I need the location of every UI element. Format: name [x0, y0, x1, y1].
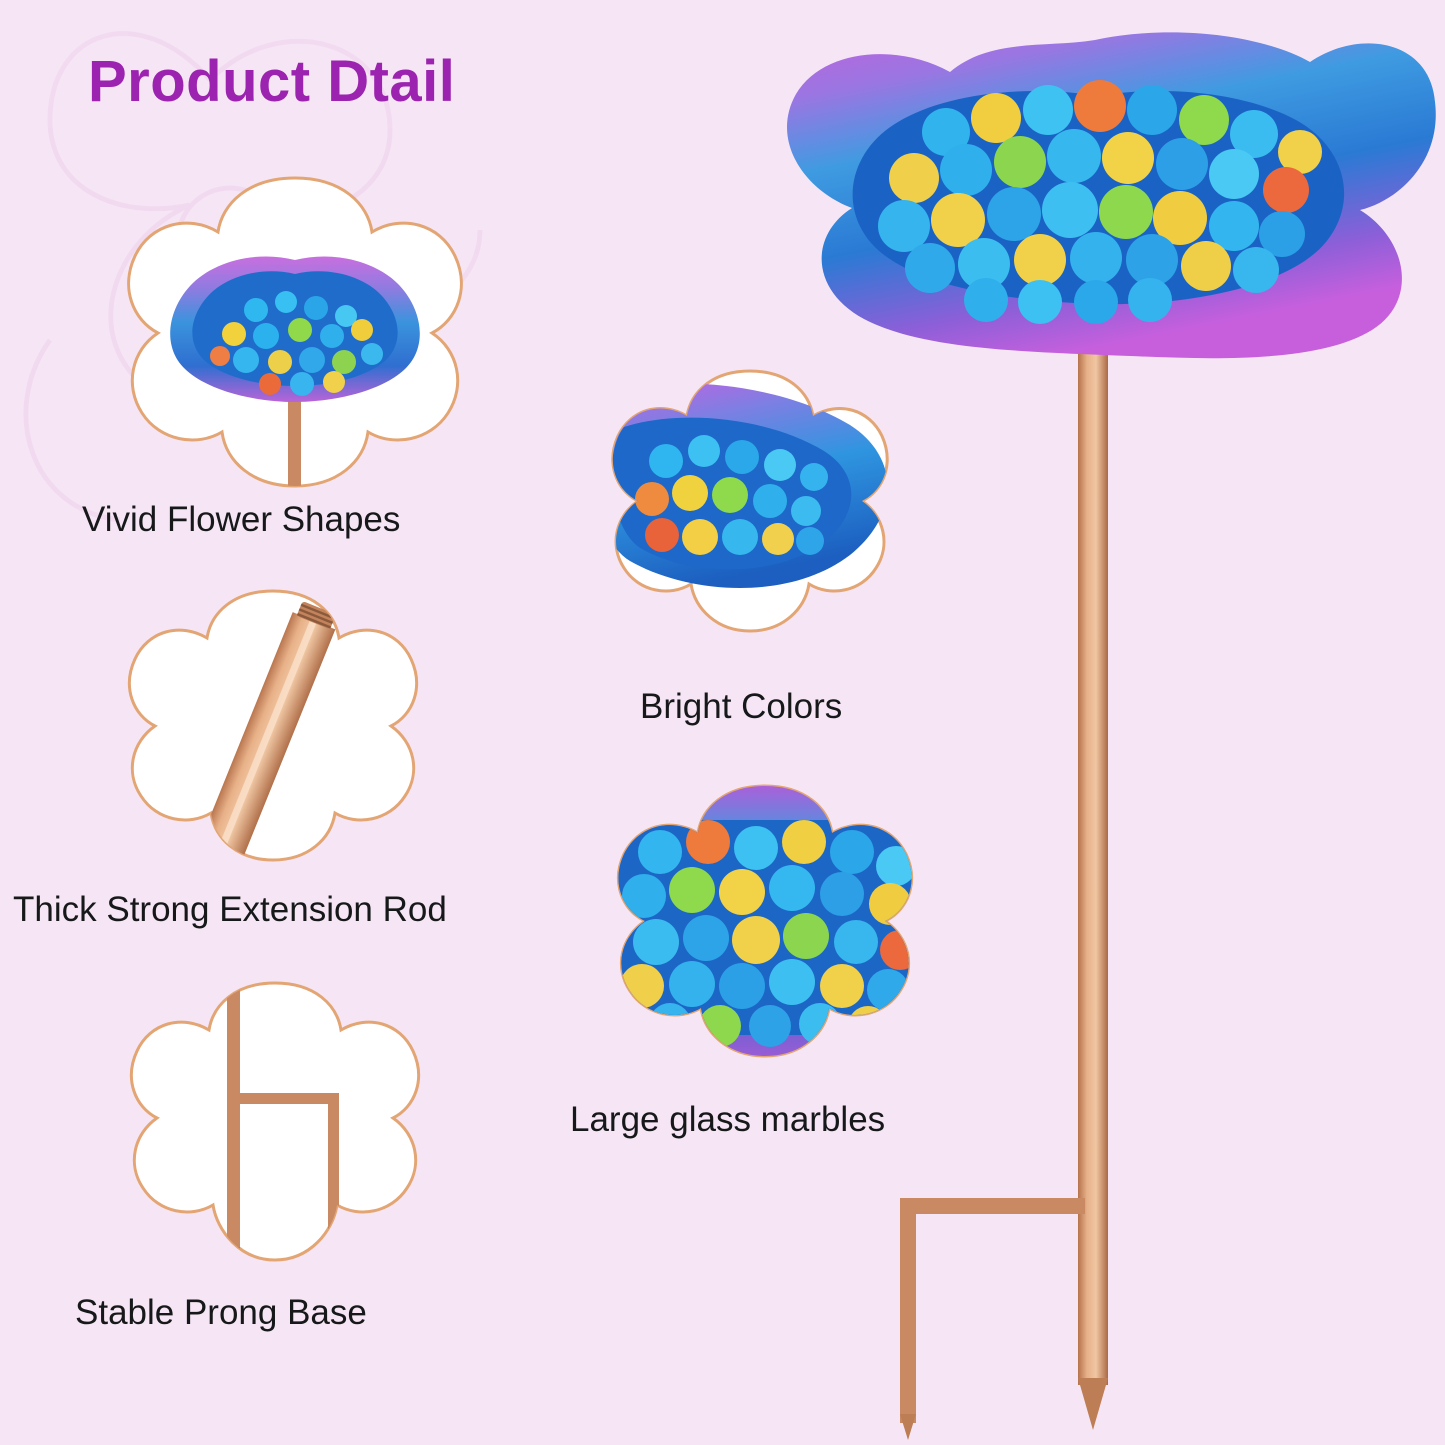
bloom-frame-extension-rod [118, 585, 428, 885]
bloom-frame-prong-base [120, 975, 430, 1285]
product-detail-infographic: Product Dtail [0, 0, 1445, 1445]
feature-caption-prong-base: Stable Prong Base [75, 1293, 367, 1333]
feature-thick-strong-extension-rod: Thick Strong Extension Rod [118, 585, 588, 925]
product-illustration [700, 10, 1445, 1440]
feature-image-vivid-flower-shapes [170, 256, 420, 500]
product-prong-bar [900, 1198, 1085, 1214]
feature-caption-extension-rod: Thick Strong Extension Rod [13, 890, 447, 930]
product-prong-tip [900, 1414, 916, 1440]
product-prong-leg [900, 1198, 916, 1423]
product-rod [1078, 350, 1108, 1385]
feature-caption-vivid-flower-shapes: Vivid Flower Shapes [82, 500, 400, 540]
product-bowl [787, 32, 1436, 358]
product-hero-image [700, 10, 1445, 1440]
bloom-frame-vivid-flower-shapes [110, 170, 480, 500]
feature-stable-prong-base: Stable Prong Base [120, 975, 590, 1375]
page-title: Product Dtail [88, 48, 455, 115]
product-rod-tip [1078, 1378, 1108, 1430]
feature-vivid-flower-shapes: Vivid Flower Shapes [110, 170, 580, 500]
